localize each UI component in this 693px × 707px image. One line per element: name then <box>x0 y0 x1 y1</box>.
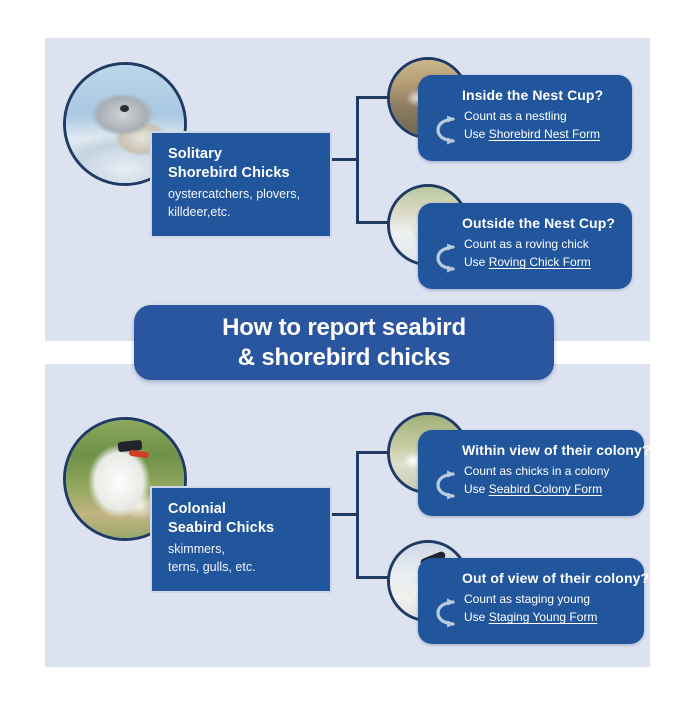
branch-card-out-of-view-colony[interactable]: Out of view of their colony? Count as st… <box>418 558 644 644</box>
category-title-solitary: Solitary Shorebird Chicks <box>168 145 316 183</box>
curved-double-arrow-icon <box>436 241 458 275</box>
branch-heading-outside-nest-cup: Outside the Nest Cup? <box>462 215 616 231</box>
branch-connector-solitary <box>328 96 390 224</box>
branch-form-outside-nest-cup: Use Roving Chick Form <box>462 253 616 271</box>
infographic-canvas: Solitary Shorebird Chicks oystercatchers… <box>0 0 693 707</box>
curved-double-arrow-icon <box>436 113 458 147</box>
use-prefix: Use <box>464 127 489 141</box>
branch-count-out-of-view-colony: Count as staging young <box>462 590 628 608</box>
curved-double-arrow-icon <box>436 468 458 502</box>
branch-connector-colonial <box>328 451 390 579</box>
use-prefix: Use <box>464 255 489 269</box>
category-card-solitary: Solitary Shorebird Chicks oystercatchers… <box>152 133 330 236</box>
branch-heading-out-of-view-colony: Out of view of their colony? <box>462 570 628 586</box>
form-link-shorebird-nest-form[interactable]: Shorebird Nest Form <box>489 127 600 141</box>
page-title-banner: How to report seabird & shorebird chicks <box>134 305 554 380</box>
branch-form-out-of-view-colony: Use Staging Young Form <box>462 608 628 626</box>
branch-count-inside-nest-cup: Count as a nestling <box>462 107 616 125</box>
curved-double-arrow-icon <box>436 596 458 630</box>
branch-card-outside-nest-cup[interactable]: Outside the Nest Cup? Count as a roving … <box>418 203 632 289</box>
branch-card-inside-nest-cup[interactable]: Inside the Nest Cup? Count as a nestling… <box>418 75 632 161</box>
form-link-seabird-colony-form[interactable]: Seabird Colony Form <box>489 482 602 496</box>
category-title-colonial: Colonial Seabird Chicks <box>168 500 316 538</box>
page-title: How to report seabird & shorebird chicks <box>222 313 466 372</box>
branch-heading-inside-nest-cup: Inside the Nest Cup? <box>462 87 616 103</box>
branch-count-within-view-colony: Count as chicks in a colony <box>462 462 628 480</box>
use-prefix: Use <box>464 482 489 496</box>
form-link-roving-chick-form[interactable]: Roving Chick Form <box>489 255 591 269</box>
branch-form-inside-nest-cup: Use Shorebird Nest Form <box>462 125 616 143</box>
form-link-staging-young-form[interactable]: Staging Young Form <box>489 610 598 624</box>
branch-heading-within-view-colony: Within view of their colony? <box>462 442 628 458</box>
branch-form-within-view-colony: Use Seabird Colony Form <box>462 480 628 498</box>
category-subtitle-colonial: skimmers, terns, gulls, etc. <box>168 541 316 577</box>
branch-count-outside-nest-cup: Count as a roving chick <box>462 235 616 253</box>
branch-card-within-view-colony[interactable]: Within view of their colony? Count as ch… <box>418 430 644 516</box>
category-subtitle-solitary: oystercatchers, plovers, killdeer,etc. <box>168 186 316 222</box>
use-prefix: Use <box>464 610 489 624</box>
category-card-colonial: Colonial Seabird Chicks skimmers, terns,… <box>152 488 330 591</box>
